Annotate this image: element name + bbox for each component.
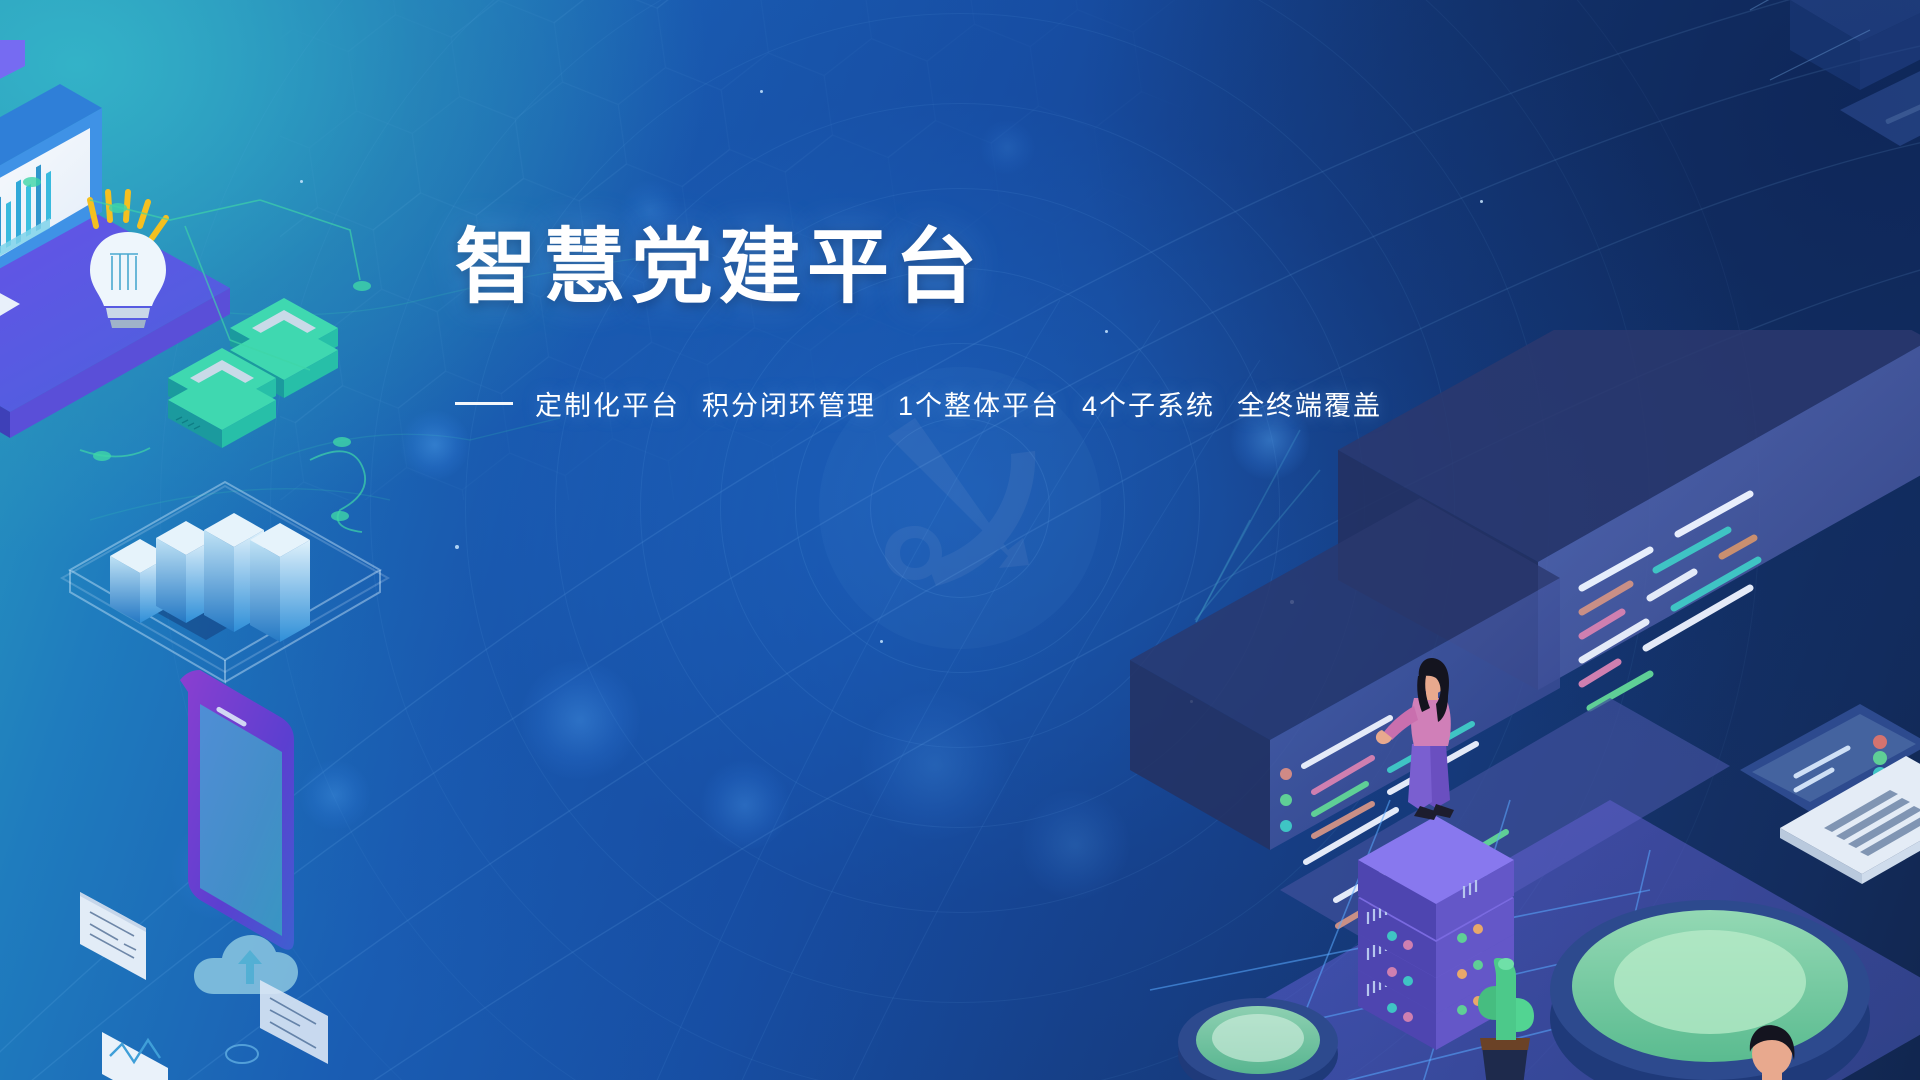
page-title: 智慧党建平台 (455, 225, 1395, 312)
subtitle-row: 定制化平台积分闭环管理1个整体平台4个子系统全终端覆盖 (455, 384, 1395, 423)
subtitle-item-0: 定制化平台 (535, 391, 680, 421)
subtitle-item-3: 4个子系统 (1082, 391, 1215, 421)
subtitle-dash (455, 402, 513, 405)
subtitle-item-1: 积分闭环管理 (702, 391, 876, 421)
subtitle-text: 定制化平台积分闭环管理1个整体平台4个子系统全终端覆盖 (535, 384, 1382, 423)
hero-banner: 智慧党建平台 定制化平台积分闭环管理1个整体平台4个子系统全终端覆盖 (0, 0, 1920, 1080)
hero-copy: 智慧党建平台 定制化平台积分闭环管理1个整体平台4个子系统全终端覆盖 (455, 225, 1395, 423)
subtitle-item-2: 1个整体平台 (898, 391, 1060, 421)
subtitle-item-4: 全终端覆盖 (1237, 391, 1382, 421)
